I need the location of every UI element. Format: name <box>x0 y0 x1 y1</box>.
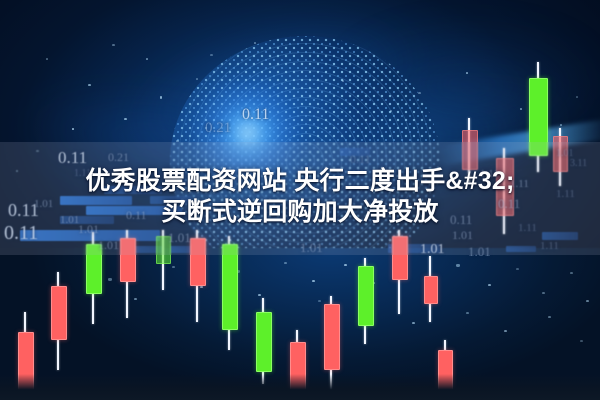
candle-body <box>324 304 340 370</box>
news-cover-image: 0.110.110.111.011.011.011.010.210.210.11… <box>0 0 600 400</box>
candle-body <box>424 276 438 304</box>
bottom-edge-vignette <box>0 374 600 400</box>
candle-body <box>222 244 238 330</box>
candle-body <box>358 266 374 326</box>
candle-body <box>256 312 272 372</box>
caption-band <box>0 142 600 255</box>
candle-body <box>51 286 67 340</box>
